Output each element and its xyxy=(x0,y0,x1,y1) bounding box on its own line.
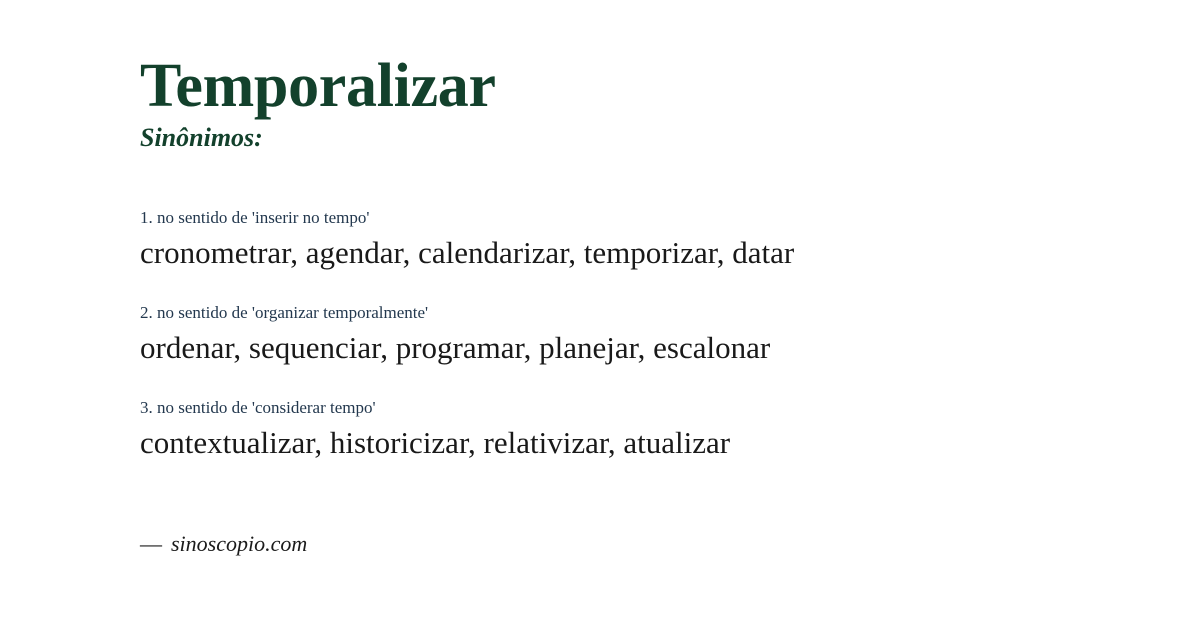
source-label: sinoscopio.com xyxy=(171,533,307,555)
sense-entry: 1. no sentido de 'inserir no tempo' cron… xyxy=(140,207,1060,272)
sense-label: 3. no sentido de 'considerar tempo' xyxy=(140,397,1060,420)
entry-header: Temporalizar Sinônimos: xyxy=(140,55,496,153)
sense-synonyms: ordenar, sequenciar, programar, planejar… xyxy=(140,328,1060,367)
sense-label: 2. no sentido de 'organizar temporalment… xyxy=(140,302,1060,325)
page-title: Temporalizar xyxy=(140,55,496,118)
synonym-card: Temporalizar Sinônimos: 1. no sentido de… xyxy=(0,0,1200,628)
sense-list: 1. no sentido de 'inserir no tempo' cron… xyxy=(140,207,1060,462)
sense-synonyms: contextualizar, historicizar, relativiza… xyxy=(140,423,1060,462)
sense-synonyms: cronometrar, agendar, calendarizar, temp… xyxy=(140,233,1060,272)
section-subtitle: Sinônimos: xyxy=(140,124,496,153)
sense-entry: 3. no sentido de 'considerar tempo' cont… xyxy=(140,397,1060,462)
sense-label: 1. no sentido de 'inserir no tempo' xyxy=(140,207,1060,230)
sense-entry: 2. no sentido de 'organizar temporalment… xyxy=(140,302,1060,367)
em-dash-icon: — xyxy=(140,533,162,555)
attribution: — sinoscopio.com xyxy=(140,533,307,555)
